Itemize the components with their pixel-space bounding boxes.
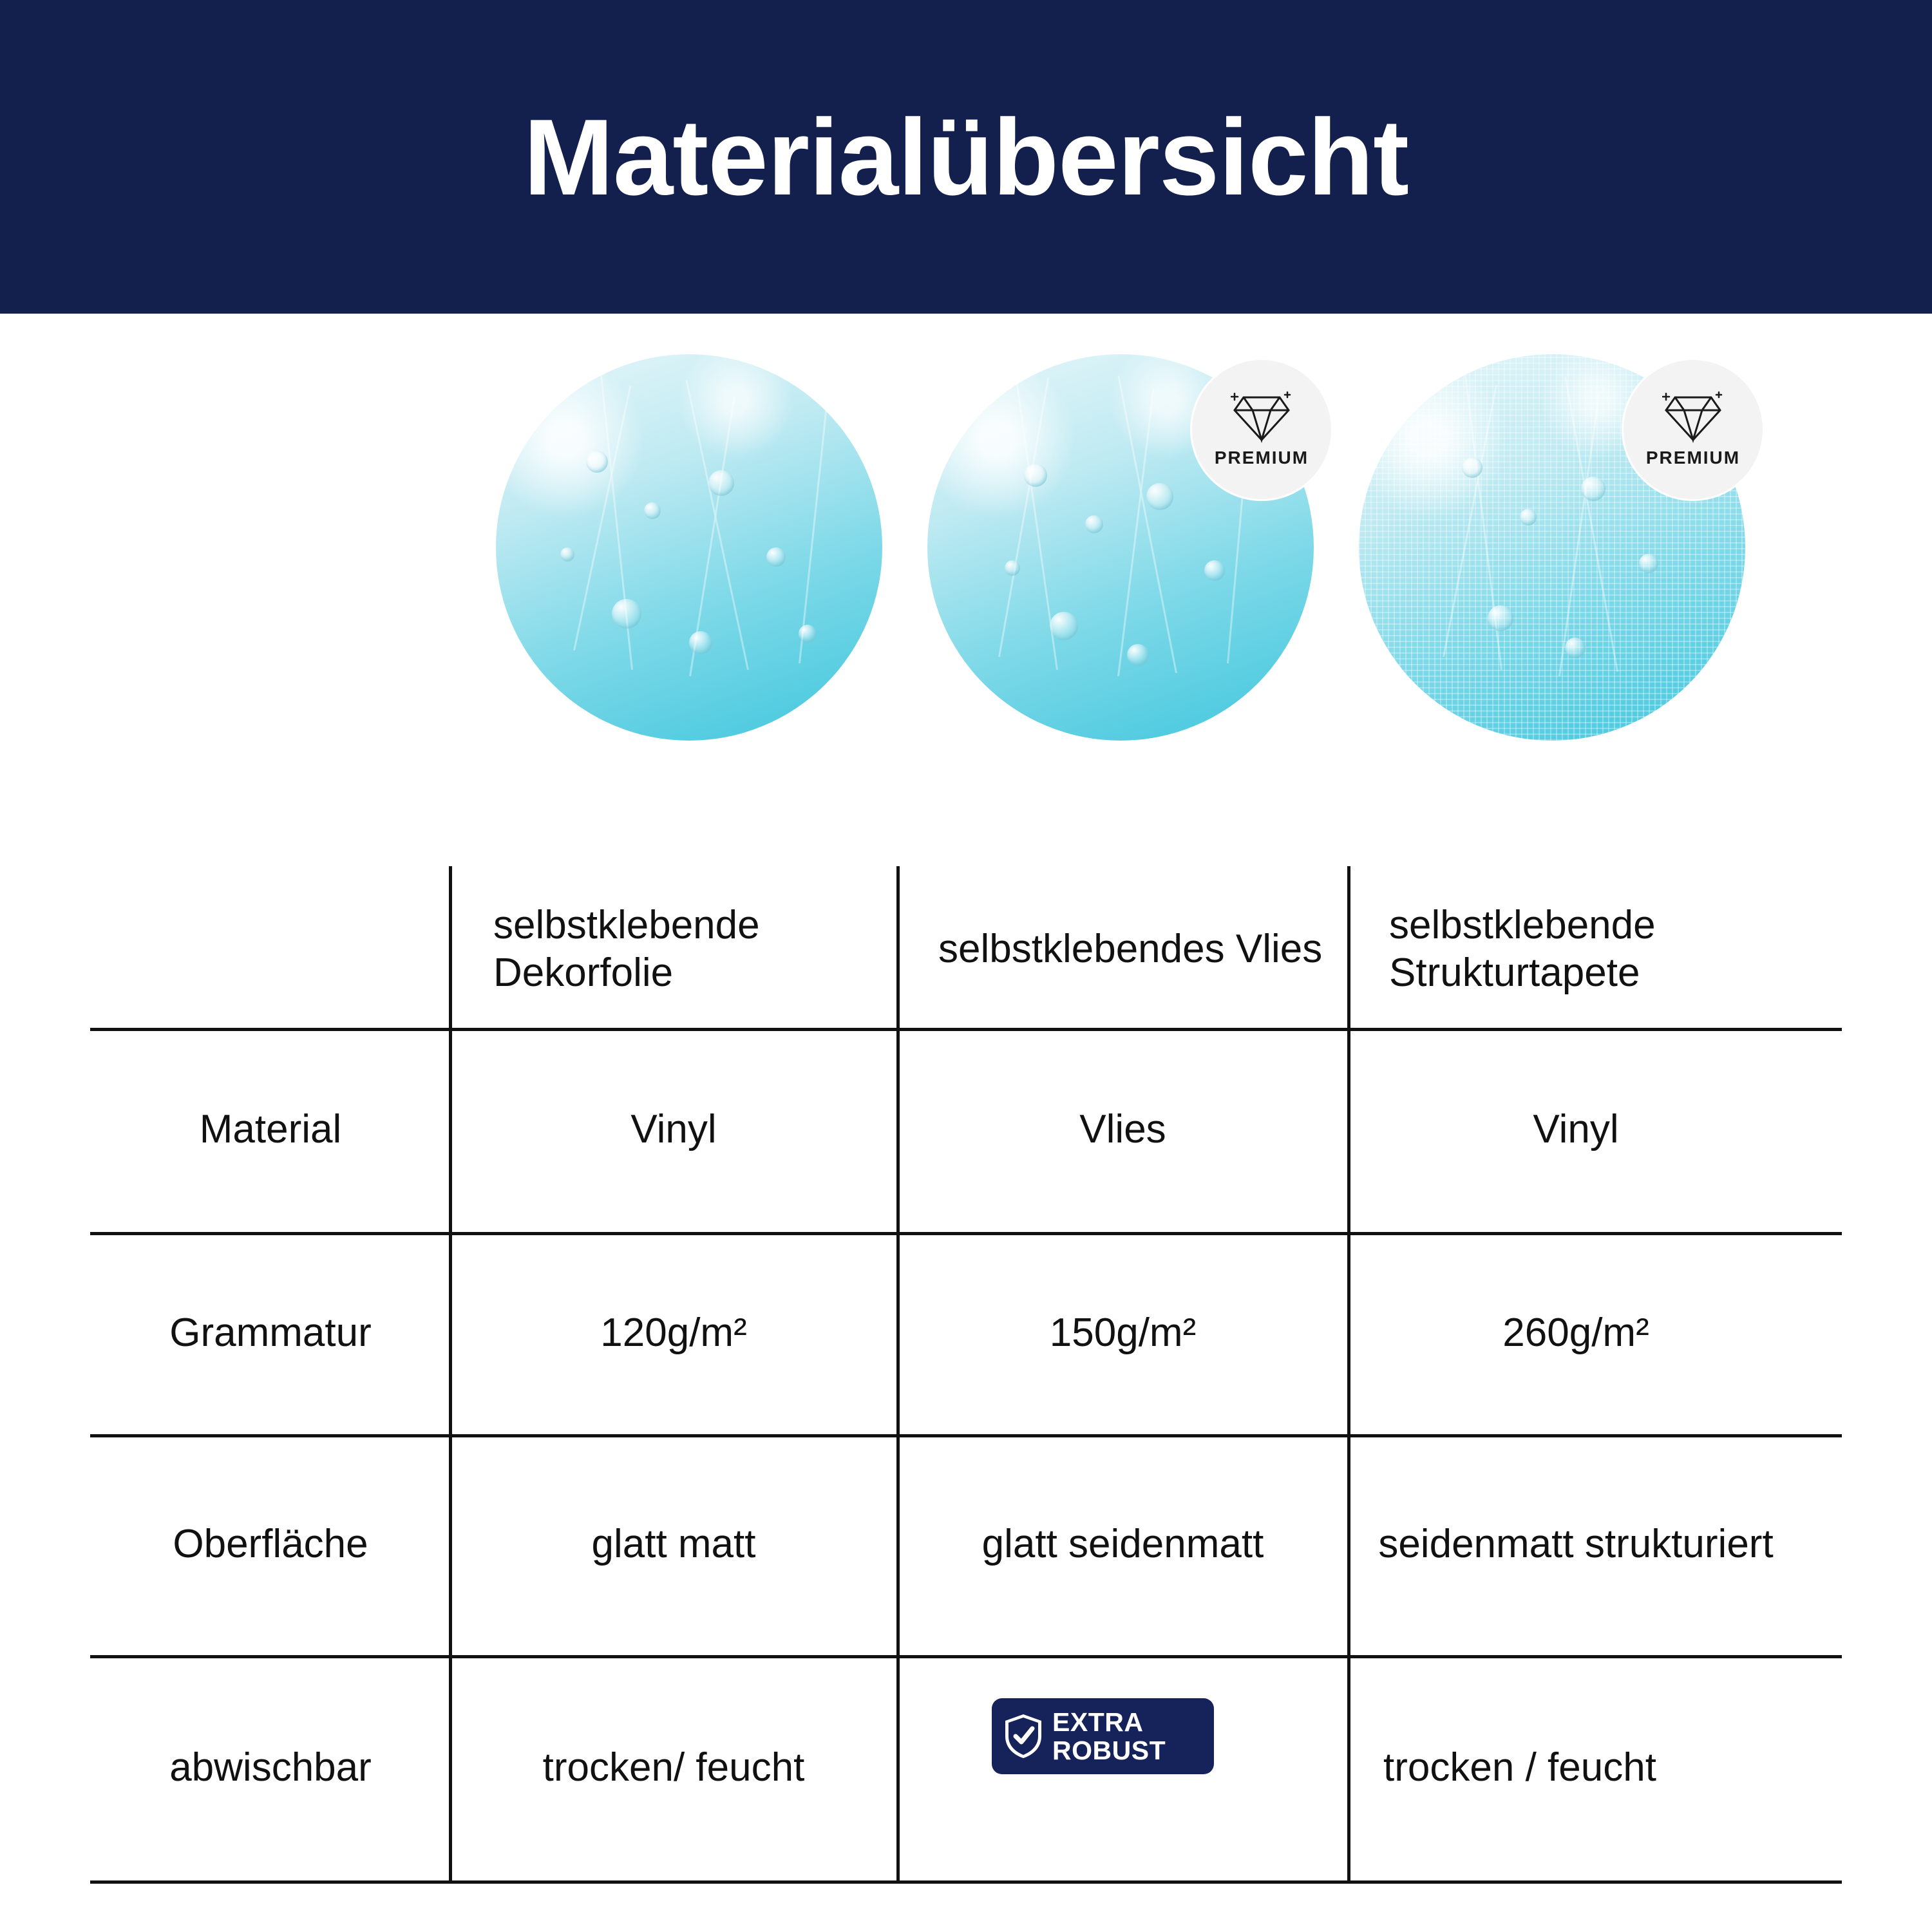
water-droplet [766,547,786,567]
diamond-icon [1662,391,1724,444]
table-cell-grammatur-vlies: 150g/m² [900,1233,1346,1433]
water-droplet [586,451,608,473]
water-droplet [1520,509,1537,526]
water-droplet [1005,560,1020,576]
water-droplet [1085,515,1103,533]
table-cell-grammatur-strukturtapete: 260g/m² [1350,1233,1801,1433]
robust-text-block: EXTRA ROBUST [1052,1708,1166,1765]
water-droplet [1050,612,1078,640]
table-row-label-abwischbar: abwischbar [93,1656,448,1879]
premium-badge: PREMIUM [1622,358,1765,501]
water-droplet [689,631,712,654]
table-cell-oberflaeche-vlies: glatt seidenmatt [900,1435,1346,1654]
table-cell-material-dekorfolie: Vinyl [452,1029,895,1231]
shield-check-icon [1003,1713,1043,1759]
water-droplet [1462,457,1482,478]
water-droplet [1565,638,1586,658]
water-droplet [1639,554,1658,573]
swatch-row: PREMIUM PREMIUM [0,348,1932,760]
robust-line-2: ROBUST [1052,1736,1166,1765]
premium-badge: PREMIUM [1190,358,1333,501]
table-header-vlies: selbstklebendes Vlies [906,873,1344,1026]
table-row-label-material: Material [93,1029,448,1231]
water-droplet [1146,483,1173,510]
water-droplet [1204,560,1225,581]
page-header: Materialübersicht [0,0,1932,314]
premium-label: PREMIUM [1215,448,1309,468]
table-cell-oberflaeche-strukturtapete: seidenmatt strukturiert [1350,1435,1801,1654]
water-droplet [708,470,734,496]
water-droplet [799,625,817,643]
water-droplet [644,502,661,519]
page-title: Materialübersicht [524,103,1408,211]
premium-label: PREMIUM [1646,448,1740,468]
water-droplet [1581,477,1605,501]
table-row-label-oberflaeche: Oberfläche [93,1435,448,1654]
water-droplet [1127,644,1149,666]
table-header-dekorfolie: selbstklebende Dekorfolie [459,873,890,1026]
water-droplet [1488,605,1513,631]
table-row-label-grammatur: Grammatur [93,1233,448,1433]
table-cell-oberflaeche-dekorfolie: glatt matt [452,1435,895,1654]
swatch-dekorfolie [496,354,882,741]
material-overview-page: Materialübersicht [0,0,1932,1932]
table-cell-material-strukturtapete: Vinyl [1350,1029,1801,1231]
table-cell-grammatur-dekorfolie: 120g/m² [452,1233,895,1433]
robust-line-1: EXTRA [1052,1708,1166,1736]
water-droplet [612,599,641,629]
diamond-icon [1231,391,1293,444]
table-divider-horizontal [90,1880,1842,1884]
water-droplet [560,547,574,562]
stem-group [496,354,882,741]
table-cell-material-vlies: Vlies [900,1029,1346,1231]
table-header-strukturtapete: selbstklebende Strukturtapete [1357,873,1808,1026]
water-droplet [1024,464,1047,487]
table-cell-abwischbar-dekorfolie: trocken/ feucht [452,1656,895,1879]
table-cell-abwischbar-merged: trocken / feucht [1236,1656,1803,1879]
extra-robust-badge: EXTRA ROBUST [992,1698,1214,1774]
